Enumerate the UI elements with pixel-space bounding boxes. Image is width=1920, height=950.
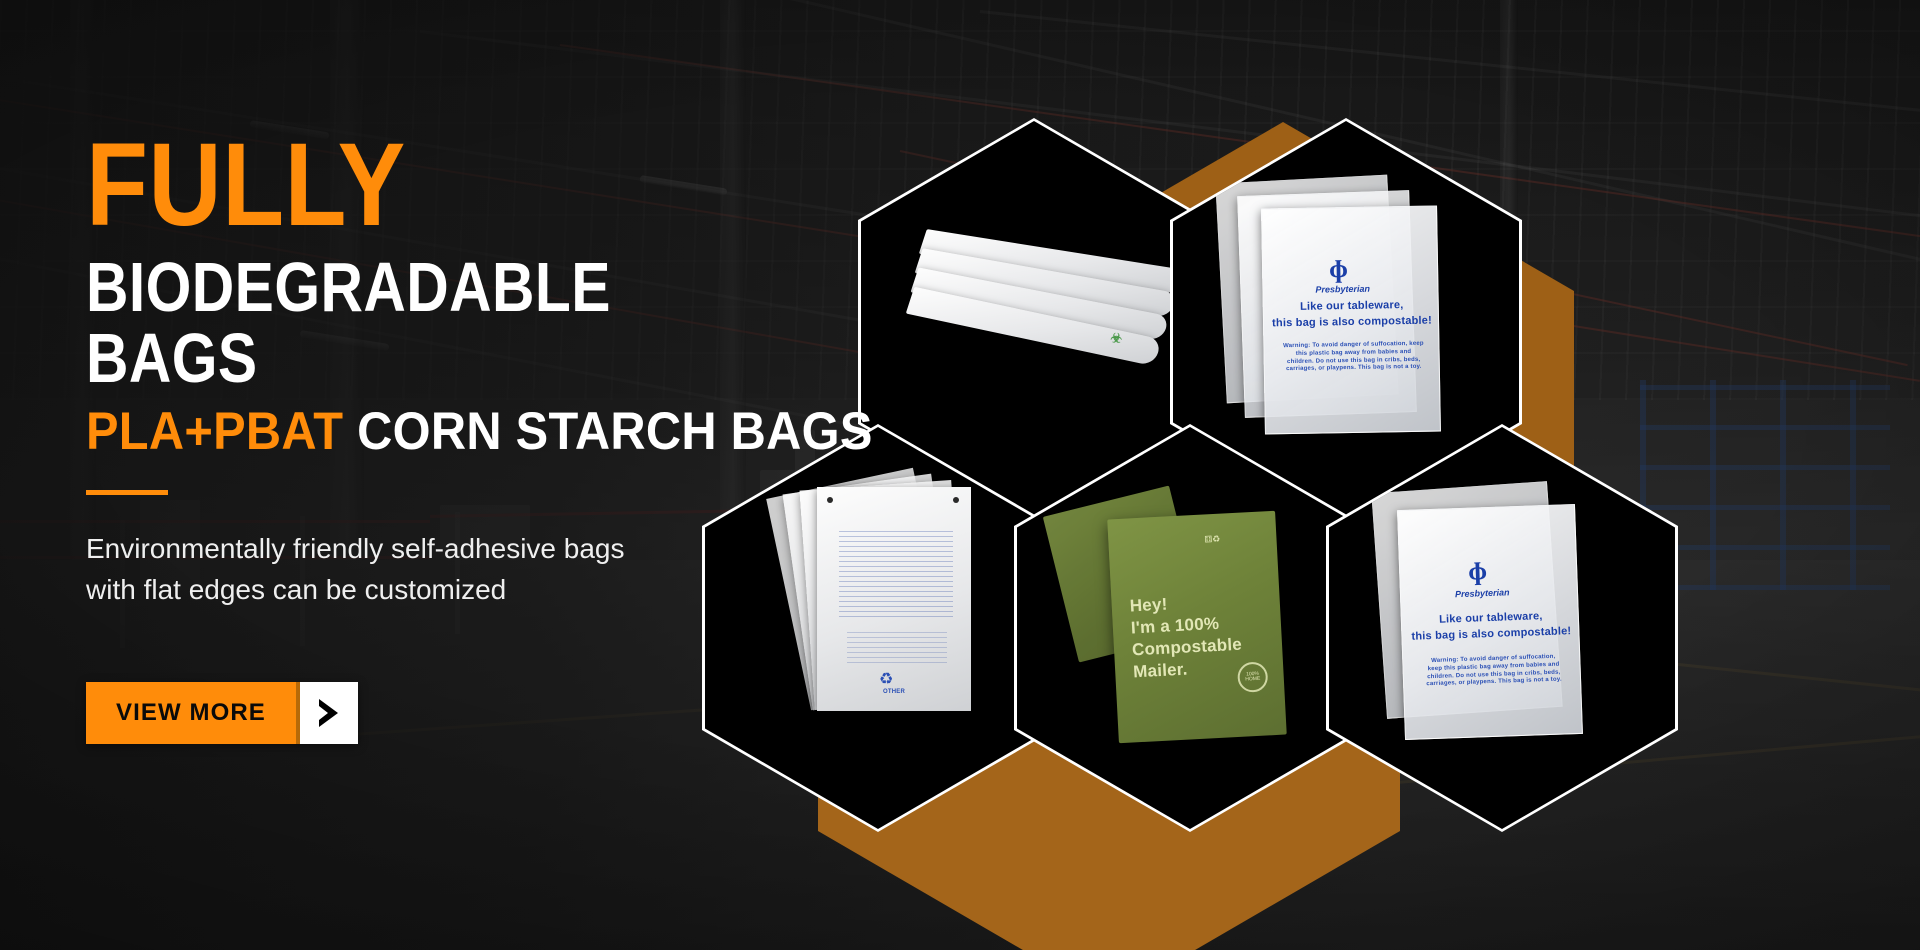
headline-tertiary-rest: CORN STARCH BAGS — [343, 402, 872, 461]
bag-warning-text: Warning: To avoid danger of suffocation,… — [1423, 653, 1564, 689]
chevron-right-icon — [296, 682, 358, 744]
mailer-print-line-3: Compostable — [1132, 635, 1243, 661]
bag-warning-text: Warning: To avoid danger of suffocation,… — [1282, 341, 1425, 375]
hero-banner: ☣ ɸ Presbyterian Like our tableware, thi… — [0, 0, 1920, 950]
bag-print-line-1: Like our tableware, — [1272, 299, 1432, 316]
recycle-symbol-icon: ♻ — [879, 669, 893, 689]
compost-certification-seal-icon: 100% HOME — [1237, 661, 1269, 693]
bag-print-line-2: this bag is also compostable! — [1268, 315, 1436, 332]
headline-secondary: BIODEGRADABLE BAGS — [86, 252, 691, 395]
recycle-code-label: OTHER — [869, 689, 919, 697]
headline-tertiary: PLA+PBAT CORN STARCH BAGS — [86, 404, 748, 460]
headline-primary: FULLY — [86, 128, 705, 244]
mailer-print-line-2: I'm a 100% — [1130, 614, 1219, 639]
brand-name: Presbyterian — [1315, 284, 1370, 295]
compostable-leaf-icon: ☣ — [1110, 330, 1122, 346]
brand-name: Presbyterian — [1455, 587, 1510, 599]
certification-marks-icon: ⚅♻ — [1204, 534, 1220, 546]
orange-divider-rule — [86, 490, 168, 495]
seal-text: 100% HOME — [1239, 671, 1266, 683]
mailer-print-line-1: Hey! — [1129, 595, 1168, 618]
banner-content: FULLY BIODEGRADABLE BAGS PLA+PBAT CORN S… — [86, 128, 806, 744]
banner-description: Environmentally friendly self-adhesive b… — [86, 529, 726, 610]
brand-logo-icon: ɸ — [1329, 256, 1348, 282]
view-more-label: VIEW MORE — [86, 682, 296, 744]
brand-logo-icon: ɸ — [1468, 558, 1488, 585]
description-line-1: Environmentally friendly self-adhesive b… — [86, 529, 726, 570]
mailer-print-line-4: Mailer. — [1133, 660, 1188, 684]
headline-tertiary-accent: PLA+PBAT — [86, 402, 343, 461]
view-more-button[interactable]: VIEW MORE — [86, 682, 358, 744]
description-line-2: with flat edges can be customized — [86, 570, 726, 611]
bag-print-line-2: this bag is also compostable! — [1406, 625, 1576, 645]
product-honeycomb: ☣ ɸ Presbyterian Like our tableware, thi… — [718, 96, 1920, 950]
